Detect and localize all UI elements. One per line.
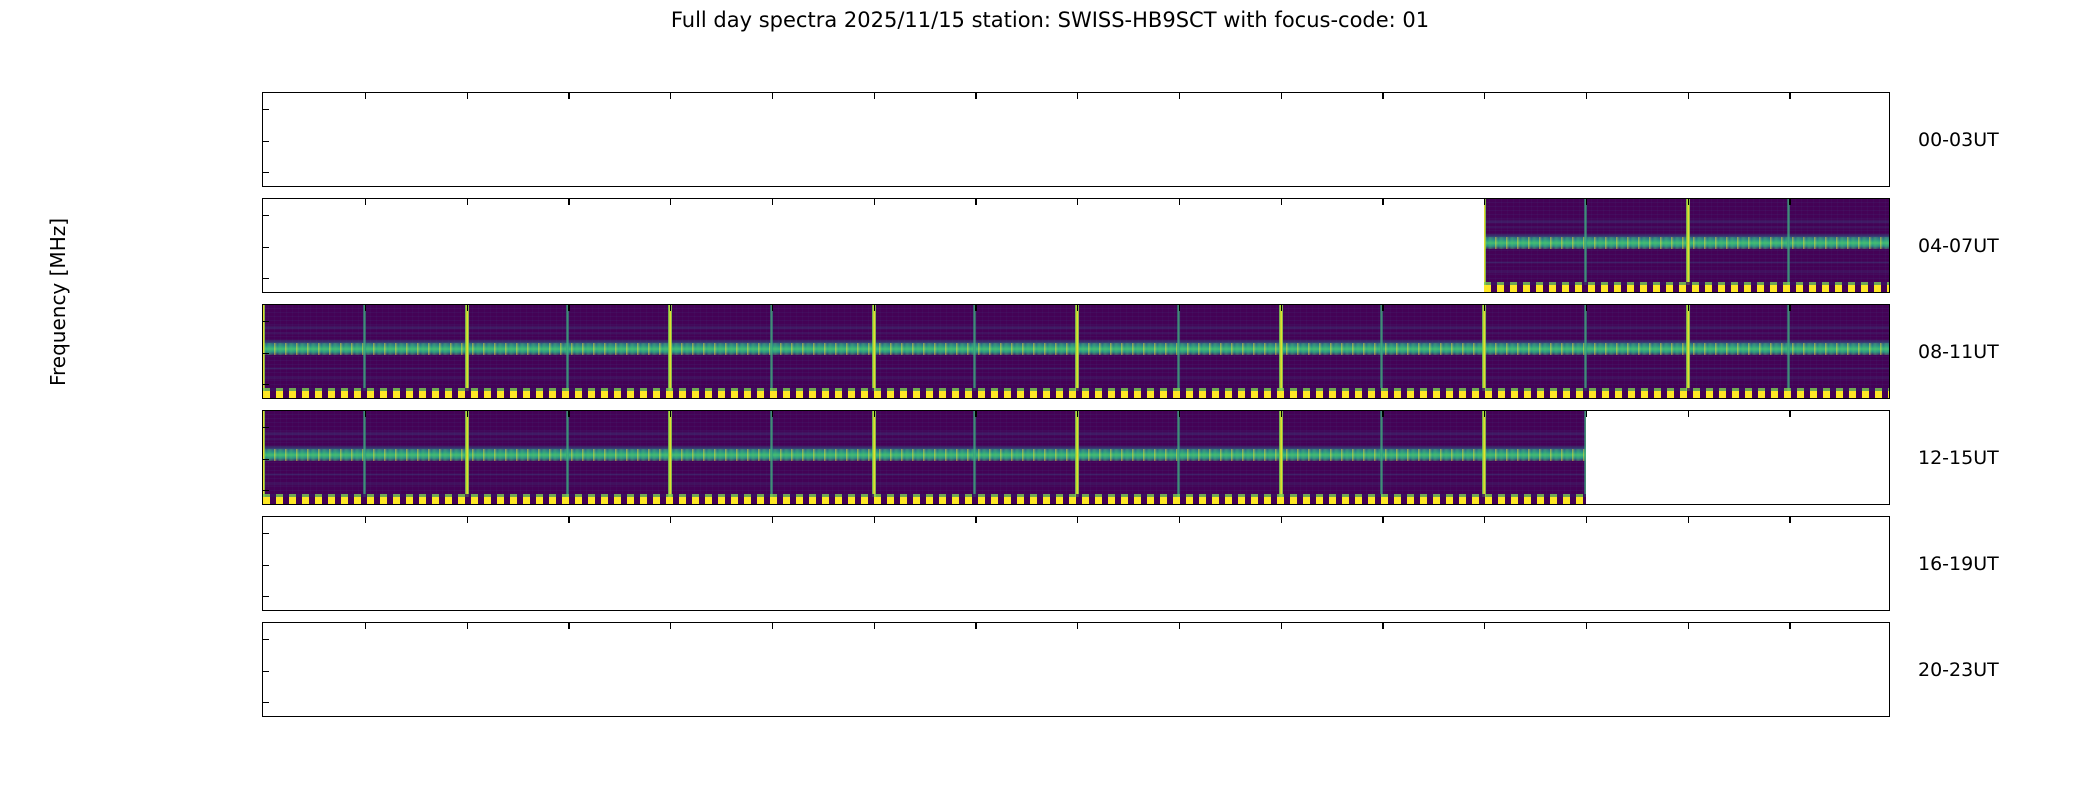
x-axis-tick-inner (467, 93, 468, 99)
x-axis-tick-inner (467, 411, 468, 417)
spectrogram-time-boundary-stripe (668, 305, 672, 398)
x-axis-tick-inner (1586, 305, 1587, 311)
panel-background (263, 517, 1889, 610)
x-axis-tick (772, 716, 773, 717)
spectrogram-time-boundary-stripe (1177, 411, 1180, 504)
x-axis-tick-inner (975, 93, 976, 99)
x-axis-tick-inner (467, 623, 468, 629)
spectrogram-data (1484, 199, 1890, 292)
x-axis-tick (1688, 716, 1689, 717)
spectrogram-time-boundary-stripe (1075, 411, 1079, 504)
y-axis-tick-inner (263, 490, 269, 491)
x-axis-tick-inner (1484, 305, 1485, 311)
spectrogram-panel-20-23ut[interactable]: 1600140012000015304500153045001530450015… (262, 622, 1890, 717)
x-axis-tick-inner (1688, 305, 1689, 311)
spectrogram-time-boundary-stripe (770, 305, 773, 398)
spectrogram-panel-04-07ut[interactable]: 160014001200 (262, 198, 1890, 293)
x-axis-tick (1077, 716, 1078, 717)
x-axis-tick-inner (1077, 93, 1078, 99)
x-axis-tick-inner (1789, 199, 1790, 205)
spectrogram-time-boundary-stripe (1889, 199, 1890, 292)
spectrogram-time-boundary-stripe (1380, 305, 1383, 398)
spectrogram-time-boundary-stripe (1279, 305, 1283, 398)
x-axis-tick-inner (1179, 199, 1180, 205)
x-axis-tick-inner (1077, 623, 1078, 629)
x-axis-tick (1789, 716, 1790, 717)
x-axis-tick-inner (1688, 517, 1689, 523)
x-axis-tick (263, 716, 264, 717)
y-axis-tick-inner (263, 321, 269, 322)
spectrogram-panel-12-15ut[interactable]: 160014001200 (262, 410, 1890, 505)
spectrogram-time-boundary-stripe (1584, 199, 1587, 292)
x-axis-tick (670, 716, 671, 717)
x-axis-tick-inner (568, 411, 569, 417)
panel-time-range-label: 00-03UT (1918, 129, 1999, 151)
y-axis-tick-inner (263, 384, 269, 385)
panel-time-range-label: 20-23UT (1918, 659, 1999, 681)
x-axis-tick-inner (1077, 411, 1078, 417)
page-title: Full day spectra 2025/11/15 station: SWI… (0, 8, 2100, 32)
x-axis-tick-inner (1484, 411, 1485, 417)
x-axis-tick-inner (1281, 623, 1282, 629)
spectrogram-saturation-line (263, 391, 1890, 398)
x-axis-tick (568, 716, 569, 717)
panel-background (263, 623, 1889, 716)
x-axis-tick-inner (568, 199, 569, 205)
x-axis-tick-inner (1688, 623, 1689, 629)
spectrogram-saturation-line (263, 497, 1586, 504)
y-axis-tick-inner (263, 278, 269, 279)
x-axis-tick-inner (1179, 305, 1180, 311)
y-axis-tick-inner (263, 671, 269, 672)
x-axis-tick-inner (1586, 411, 1587, 417)
x-axis-tick-inner (975, 305, 976, 311)
x-axis-tick-inner (874, 199, 875, 205)
x-axis-tick-inner (1382, 199, 1383, 205)
panel-time-range-label: 04-07UT (1918, 235, 1999, 257)
x-axis-tick-inner (975, 411, 976, 417)
spectrogram-panel-16-19ut[interactable]: 160014001200 (262, 516, 1890, 611)
panel-time-range-label: 16-19UT (1918, 553, 1999, 575)
x-axis-tick-inner (1789, 305, 1790, 311)
x-axis-tick-inner (1382, 623, 1383, 629)
x-axis-tick-inner (1688, 199, 1689, 205)
x-axis-tick-inner (1281, 411, 1282, 417)
x-axis-tick-inner (772, 305, 773, 311)
x-axis-tick-inner (874, 623, 875, 629)
x-axis-tick (1586, 716, 1587, 717)
x-axis-tick-inner (1789, 93, 1790, 99)
y-axis-tick-inner (263, 109, 269, 110)
spectrogram-faint-band (263, 431, 1586, 436)
x-axis-tick (1281, 716, 1282, 717)
spectrogram-time-boundary-stripe (1889, 305, 1890, 398)
x-axis-tick-inner (568, 517, 569, 523)
x-axis-tick-inner (1179, 411, 1180, 417)
panel-time-range-label: 12-15UT (1918, 447, 1999, 469)
spectrogram-emission-band-1420mhz (263, 449, 1586, 461)
x-axis-tick-inner (1077, 199, 1078, 205)
spectrogram-panel-00-03ut[interactable]: 160014001200 (262, 92, 1890, 187)
y-axis-tick-inner (263, 565, 269, 566)
y-axis-tick-inner (263, 215, 269, 216)
x-axis-tick-inner (1281, 93, 1282, 99)
x-axis-tick-inner (670, 623, 671, 629)
panel-background (263, 93, 1889, 186)
spectrogram-time-boundary-stripe (1279, 411, 1283, 504)
y-axis-tick-inner (263, 247, 269, 248)
x-axis-tick-inner (1484, 93, 1485, 99)
x-axis-tick-inner (975, 199, 976, 205)
x-axis-tick-inner (568, 93, 569, 99)
y-axis-tick-inner (263, 596, 269, 597)
x-axis-tick-inner (670, 199, 671, 205)
x-axis-tick-inner (365, 411, 366, 417)
x-axis-tick-inner (874, 411, 875, 417)
spectrogram-time-boundary-stripe (465, 305, 469, 398)
x-axis-tick-inner (1382, 93, 1383, 99)
spectrogram-time-boundary-stripe (1686, 199, 1690, 292)
x-axis-tick-inner (1586, 93, 1587, 99)
spectrogram-faint-band (263, 438, 1586, 441)
x-axis-tick-inner (1281, 517, 1282, 523)
spectrogram-panel-08-11ut[interactable]: 160014001200 (262, 304, 1890, 399)
y-axis-tick-inner (263, 353, 269, 354)
x-axis-tick-inner (1382, 305, 1383, 311)
spectrogram-time-boundary-stripe (1482, 411, 1486, 504)
x-axis-tick-inner (1077, 517, 1078, 523)
spectrogram-data (263, 411, 1586, 504)
x-axis-tick-inner (1484, 623, 1485, 629)
x-axis-tick-inner (874, 93, 875, 99)
x-axis-tick-inner (772, 517, 773, 523)
spectrogram-data (263, 305, 1890, 398)
spectrogram-figure: Full day spectra 2025/11/15 station: SWI… (0, 0, 2100, 800)
spectrogram-time-boundary-stripe (363, 305, 366, 398)
x-axis-tick-inner (1382, 411, 1383, 417)
spectrogram-time-boundary-stripe (1075, 305, 1079, 398)
x-axis-tick (1179, 716, 1180, 717)
spectrogram-time-boundary-stripe (1484, 199, 1486, 292)
x-axis-tick-inner (1382, 517, 1383, 523)
spectrogram-time-boundary-stripe (1787, 305, 1790, 398)
spectrogram-time-boundary-stripe (566, 305, 569, 398)
spectrogram-time-boundary-stripe (1584, 305, 1587, 398)
x-axis-tick-inner (568, 623, 569, 629)
spectrogram-time-boundary-stripe (1787, 199, 1790, 292)
x-axis-tick-inner (975, 623, 976, 629)
spectrogram-saturation-line (1484, 285, 1890, 292)
x-axis-tick-inner (975, 517, 976, 523)
x-axis-tick-inner (1281, 305, 1282, 311)
x-axis-tick-inner (1789, 517, 1790, 523)
spectrogram-time-boundary-stripe (1482, 305, 1486, 398)
x-axis-tick-inner (772, 199, 773, 205)
x-axis-tick-inner (365, 199, 366, 205)
x-axis-tick-inner (365, 305, 366, 311)
x-axis-tick (975, 716, 976, 717)
x-axis-tick-inner (772, 93, 773, 99)
x-axis-tick-inner (1586, 517, 1587, 523)
y-axis-tick-inner (263, 141, 269, 142)
x-axis-tick-inner (1484, 517, 1485, 523)
x-axis-tick (1484, 716, 1485, 717)
x-axis-tick-inner (467, 517, 468, 523)
x-axis-tick-inner (568, 305, 569, 311)
x-axis-tick-inner (670, 411, 671, 417)
x-axis-tick (874, 716, 875, 717)
y-axis-tick-inner (263, 427, 269, 428)
y-axis-tick-inner (263, 639, 269, 640)
x-axis-tick (1382, 716, 1383, 717)
x-axis-tick-inner (670, 517, 671, 523)
x-axis-tick-inner (1179, 517, 1180, 523)
spectrogram-time-boundary-stripe (872, 305, 876, 398)
y-axis-tick-inner (263, 172, 269, 173)
spectrogram-time-boundary-stripe (668, 411, 672, 504)
spectrogram-time-boundary-stripe (1584, 411, 1586, 504)
y-axis-tick-inner (263, 702, 269, 703)
x-axis-tick-inner (1688, 411, 1689, 417)
spectrogram-time-boundary-stripe (1177, 305, 1180, 398)
x-axis-tick-inner (1586, 199, 1587, 205)
y-axis-label: Frequency [MHz] (46, 152, 70, 452)
spectrogram-time-boundary-stripe (1380, 411, 1383, 504)
spectrogram-time-boundary-stripe (363, 411, 366, 504)
x-axis-tick (365, 716, 366, 717)
x-axis-tick-inner (365, 623, 366, 629)
x-axis-tick-inner (1179, 93, 1180, 99)
y-axis-tick-inner (263, 533, 269, 534)
x-axis-tick-inner (670, 305, 671, 311)
panel-time-range-label: 08-11UT (1918, 341, 1999, 363)
x-axis-tick (467, 716, 468, 717)
spectrogram-time-boundary-stripe (465, 411, 469, 504)
x-axis-tick-inner (467, 305, 468, 311)
spectrogram-time-boundary-stripe (1686, 305, 1690, 398)
x-axis-tick-inner (670, 93, 671, 99)
x-axis-tick-inner (874, 305, 875, 311)
x-axis-tick-inner (1789, 411, 1790, 417)
x-axis-tick-inner (1077, 305, 1078, 311)
spectrogram-faint-band (263, 473, 1586, 476)
x-axis-tick-inner (772, 623, 773, 629)
x-axis-tick-inner (1789, 623, 1790, 629)
y-axis-tick-inner (263, 459, 269, 460)
x-axis-tick-inner (365, 93, 366, 99)
x-axis-tick-inner (1688, 93, 1689, 99)
x-axis-tick-inner (365, 517, 366, 523)
spectrogram-faint-band (263, 482, 1586, 486)
x-axis-tick-inner (1281, 199, 1282, 205)
spectrogram-time-boundary-stripe (973, 305, 976, 398)
spectrogram-time-boundary-stripe (973, 411, 976, 504)
x-axis-tick-inner (1484, 199, 1485, 205)
x-axis-tick-inner (874, 517, 875, 523)
spectrogram-time-boundary-stripe (566, 411, 569, 504)
x-axis-tick-inner (467, 199, 468, 205)
x-axis-tick-inner (1586, 623, 1587, 629)
spectrogram-time-boundary-stripe (872, 411, 876, 504)
x-axis-tick-inner (1179, 623, 1180, 629)
spectrogram-time-boundary-stripe (770, 411, 773, 504)
x-axis-tick-inner (772, 411, 773, 417)
